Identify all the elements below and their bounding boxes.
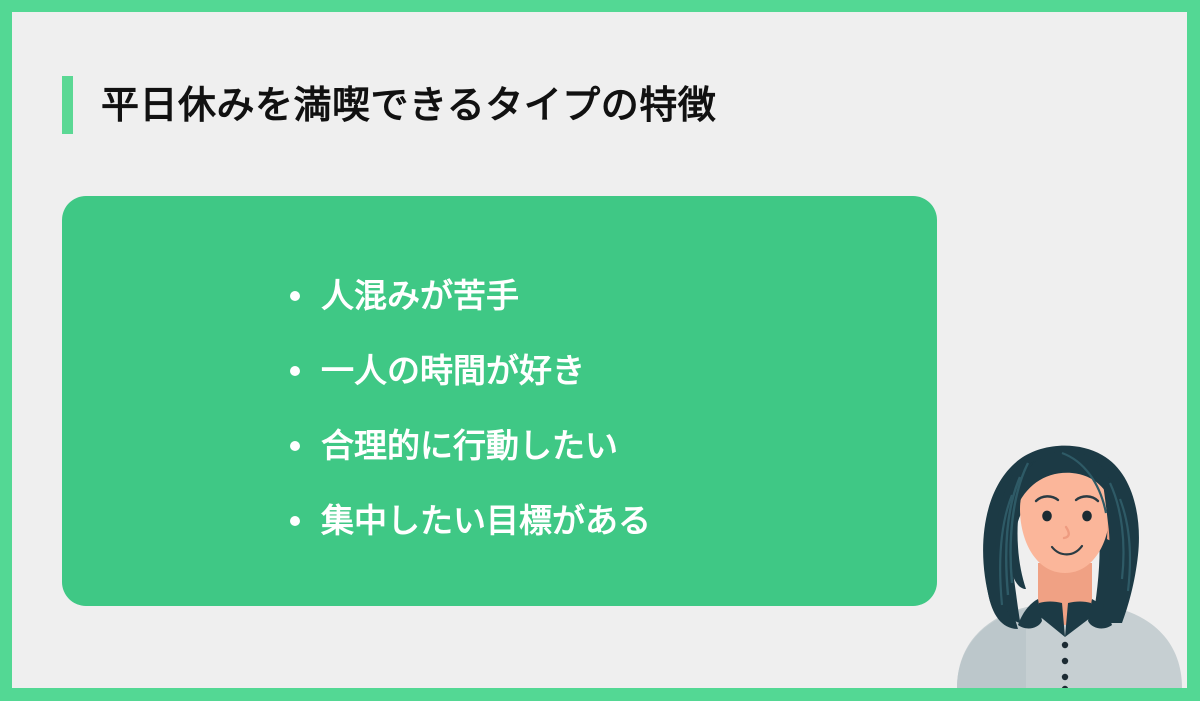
eye-right: [1082, 511, 1092, 522]
title-label: 平日休みを満喫できるタイプの特徴: [101, 86, 716, 124]
page-title: 平日休みを満喫できるタイプの特徴: [62, 74, 716, 136]
woman-portrait-illustration: [942, 423, 1187, 688]
list-item: 合理的に行動したい: [290, 408, 651, 483]
slide-frame: 平日休みを満喫できるタイプの特徴 人混みが苦手 一人の時間が好き 合理的に行動し…: [0, 0, 1200, 701]
title-accent-bar: [62, 76, 73, 134]
bullet-label: 集中したい目標がある: [321, 504, 651, 537]
bullet-dot-icon: [290, 291, 300, 301]
slide-canvas: 平日休みを満喫できるタイプの特徴 人混みが苦手 一人の時間が好き 合理的に行動し…: [12, 12, 1187, 688]
bullet-dot-icon: [290, 441, 300, 451]
list-item: 人混みが苦手: [290, 258, 651, 333]
blouse-button: [1062, 658, 1068, 664]
bullet-dot-icon: [290, 366, 300, 376]
list-item: 集中したい目標がある: [290, 483, 651, 558]
feature-card: 人混みが苦手 一人の時間が好き 合理的に行動したい 集中したい目標がある: [62, 196, 937, 606]
feature-bullet-list: 人混みが苦手 一人の時間が好き 合理的に行動したい 集中したい目標がある: [290, 258, 651, 558]
bullet-dot-icon: [290, 516, 300, 526]
blouse-button: [1062, 642, 1068, 648]
bullet-label: 一人の時間が好き: [321, 354, 585, 387]
bullet-label: 合理的に行動したい: [321, 429, 618, 462]
list-item: 一人の時間が好き: [290, 333, 651, 408]
blouse-button: [1062, 674, 1068, 680]
bullet-label: 人混みが苦手: [321, 279, 519, 312]
eye-left: [1042, 511, 1052, 522]
